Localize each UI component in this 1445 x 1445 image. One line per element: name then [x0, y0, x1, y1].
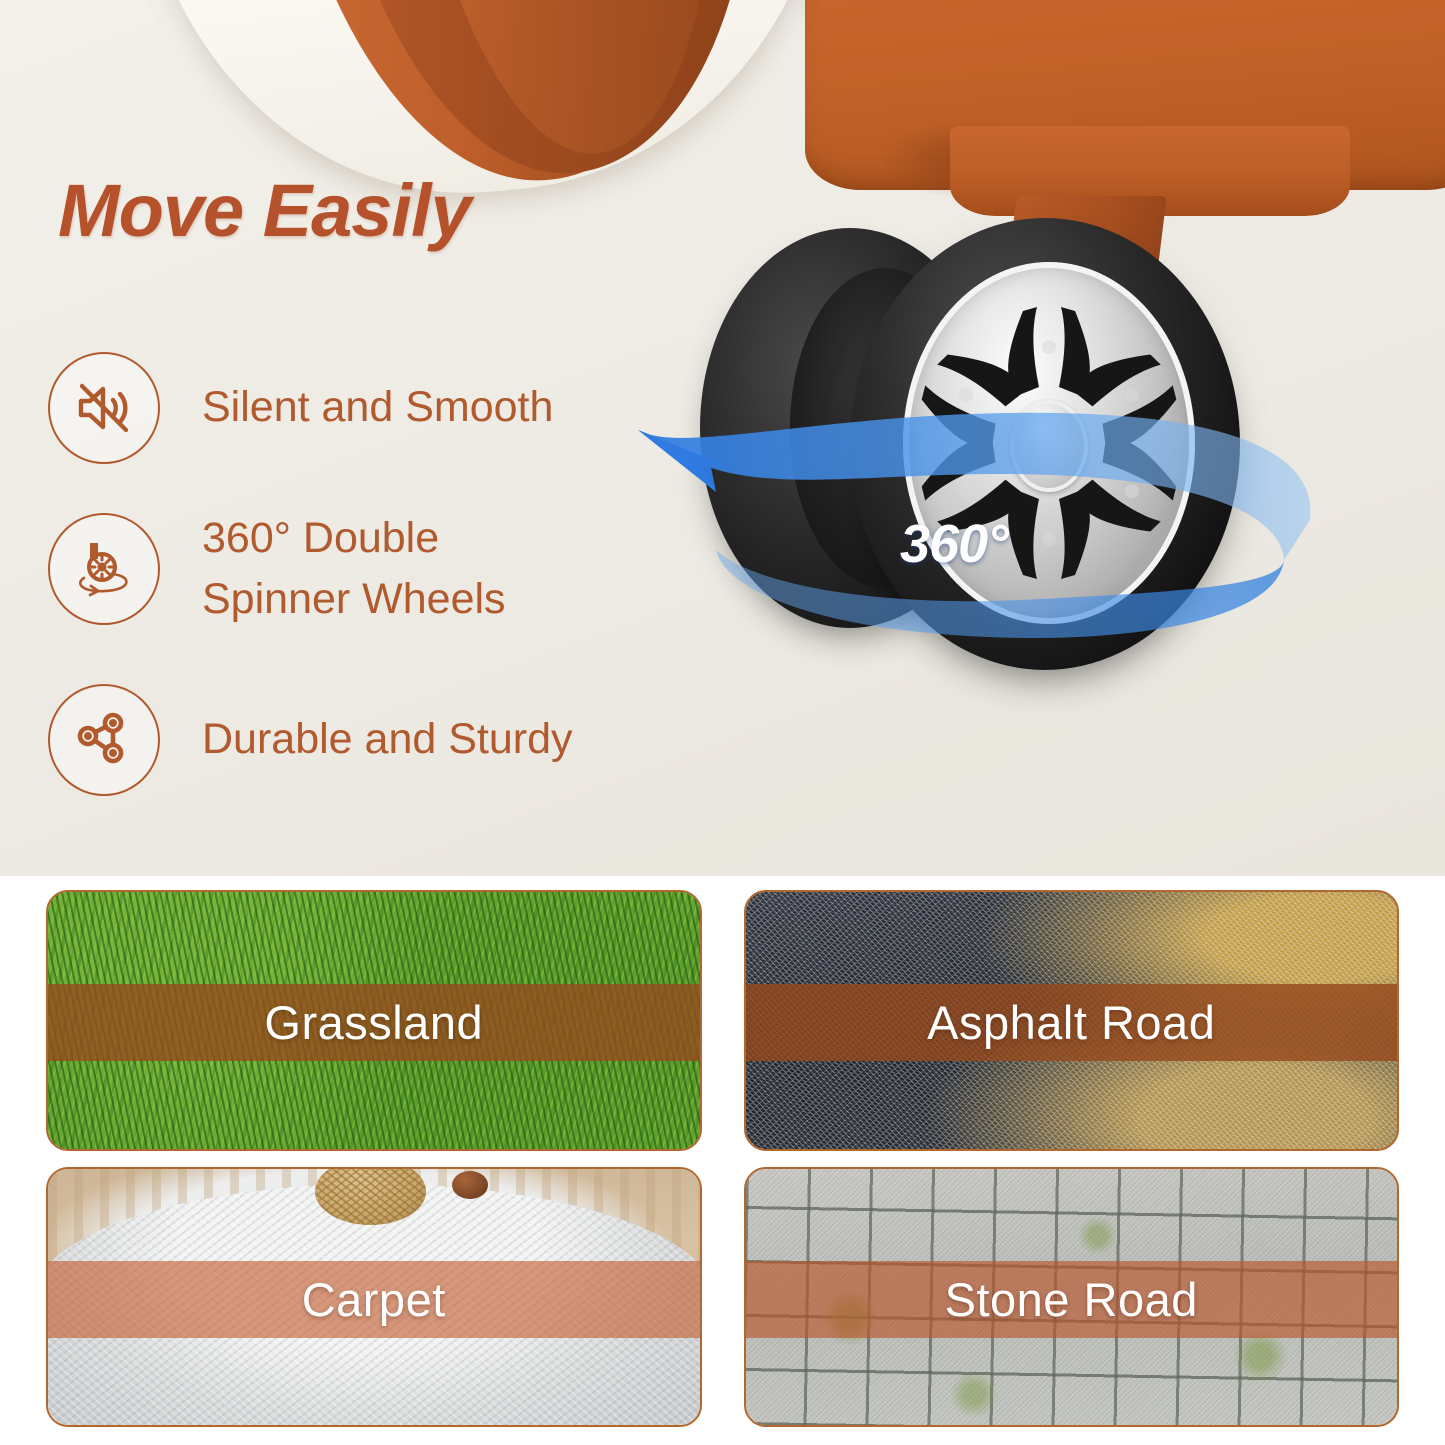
surface-card-grassland[interactable]: Grassland: [46, 890, 702, 1151]
feature-label: Silent and Smooth: [202, 377, 553, 438]
surface-label: Stone Road: [945, 1272, 1198, 1327]
surface-cards-section: Grassland Asphalt Road Carpet: [0, 876, 1445, 1445]
feature-row-spinner: 360° Double Spinner Wheels: [48, 508, 506, 630]
surface-label: Grassland: [264, 995, 483, 1050]
surface-label: Asphalt Road: [927, 995, 1215, 1050]
feature-label: Durable and Sturdy: [202, 709, 573, 770]
surface-card-asphalt-road[interactable]: Asphalt Road: [744, 890, 1400, 1151]
decor-ball: [452, 1171, 488, 1199]
molecule-nodes-icon: [48, 684, 160, 796]
page-title: Move Easily: [58, 168, 471, 253]
card-label-band: Grassland: [48, 984, 700, 1061]
card-label-band: Carpet: [48, 1261, 700, 1338]
rotation-degree-badge: 360°: [900, 513, 1008, 575]
mute-speaker-icon: [48, 352, 160, 464]
spinner-caster-wheel-icon: [48, 513, 160, 625]
product-infographic: 360° Move Easily Silent and Smooth: [0, 0, 1445, 1445]
card-label-band: Stone Road: [746, 1261, 1398, 1338]
feature-row-durable: Durable and Sturdy: [48, 684, 573, 796]
card-label-band: Asphalt Road: [746, 984, 1398, 1061]
feature-label: 360° Double Spinner Wheels: [202, 508, 506, 630]
surface-card-stone-road[interactable]: Stone Road: [744, 1167, 1400, 1428]
surface-card-carpet[interactable]: Carpet: [46, 1167, 702, 1428]
hero-panel: 360° Move Easily Silent and Smooth: [0, 0, 1445, 876]
surface-label: Carpet: [302, 1272, 446, 1327]
feature-row-silent: Silent and Smooth: [48, 352, 553, 464]
